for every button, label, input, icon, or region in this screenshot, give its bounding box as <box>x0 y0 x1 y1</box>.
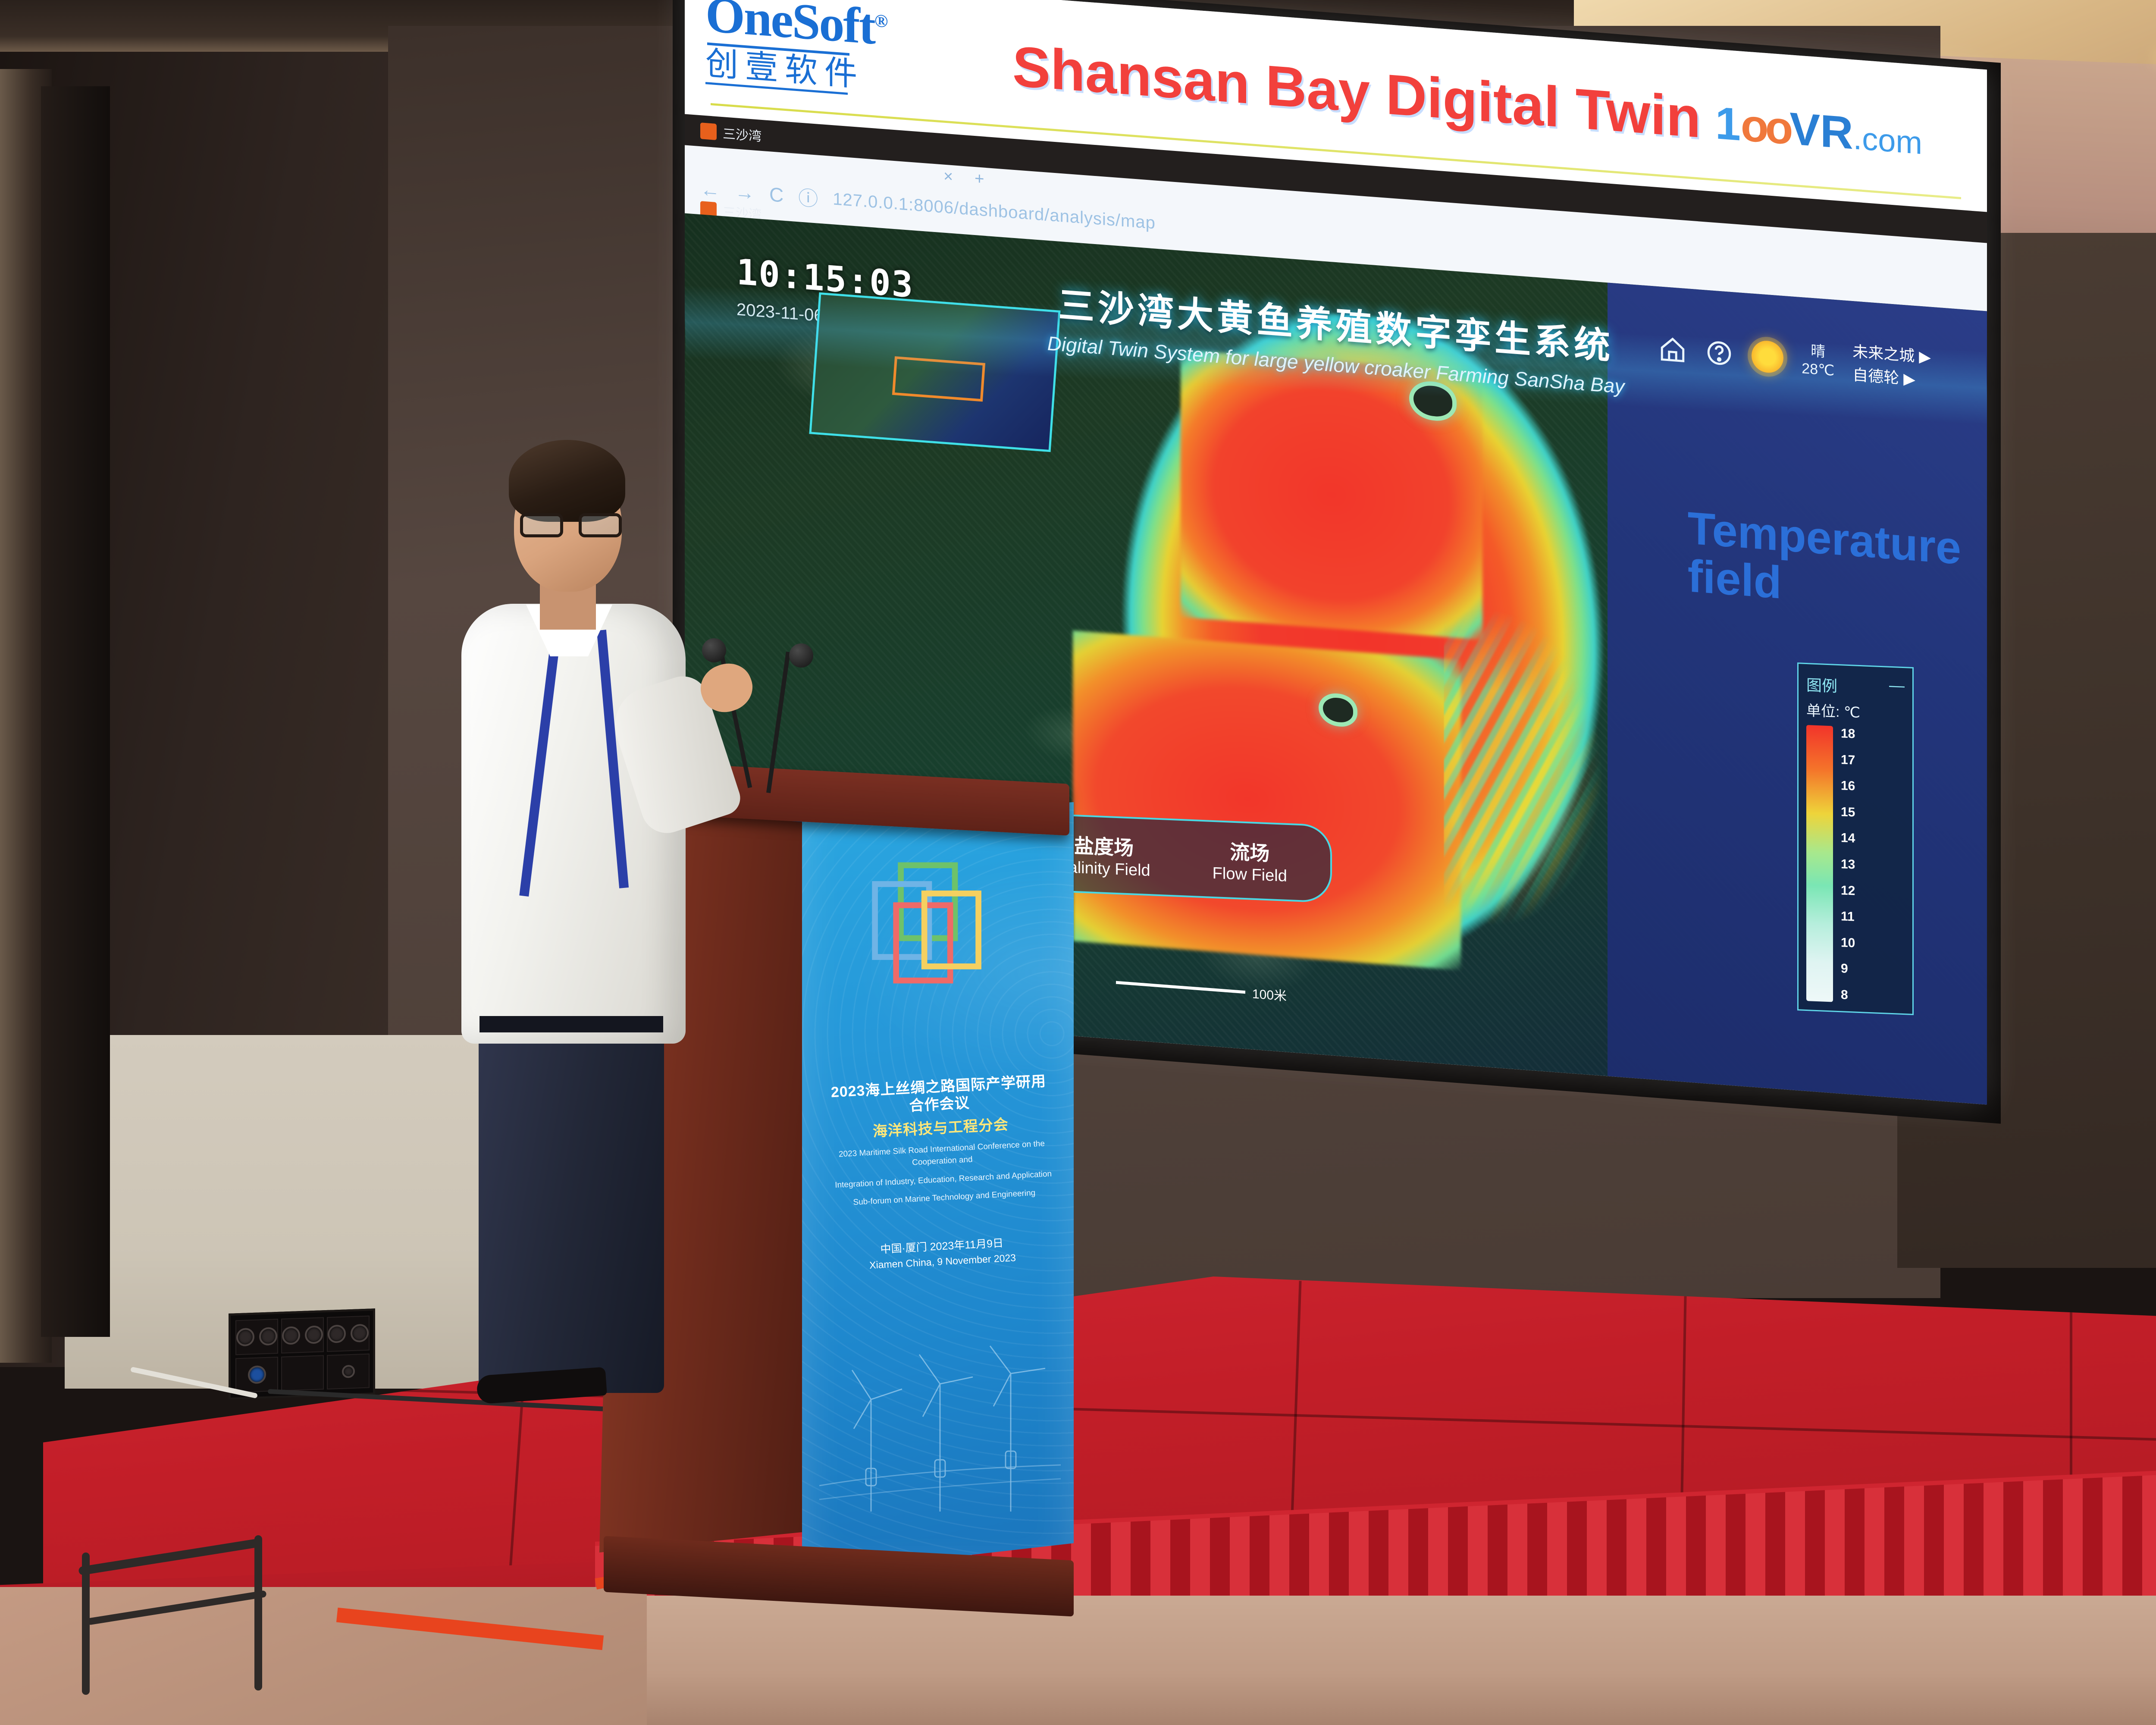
legend-ticks: 18 17 16 15 14 13 12 11 10 9 8 <box>1841 726 1855 1003</box>
speaker-belt <box>479 1016 663 1032</box>
conference-emblem-icon <box>858 858 1005 988</box>
vr-logo-tld: .com <box>1853 120 1922 161</box>
wind-turbine-graphic <box>819 1337 1061 1522</box>
hud-quick-links[interactable]: 未来之城 ▶ 自德轮 ▶ <box>1852 340 1931 392</box>
field-button-label-en: Flow Field <box>1213 864 1287 886</box>
thermal-front-contour-bands <box>1444 590 1711 998</box>
bookmark-label: 三沙湾 <box>723 123 761 145</box>
back-icon[interactable]: ← <box>700 177 720 202</box>
legend-tick: 14 <box>1841 831 1855 846</box>
stage-audio-connector-panel <box>229 1308 375 1400</box>
legend-tick: 9 <box>1841 962 1855 977</box>
weather-temperature: 28℃ <box>1802 359 1834 380</box>
url-text: 127.0.0.1:8006/dashboard/analysis/map <box>833 189 1156 233</box>
legend-tick: 12 <box>1841 883 1855 898</box>
forward-icon[interactable]: → <box>735 180 755 204</box>
legend-colorbar <box>1806 725 1833 1002</box>
reload-icon[interactable]: C <box>769 182 783 207</box>
weather-readout: 晴 28℃ <box>1802 341 1834 380</box>
field-button-label-cn: 流场 <box>1213 836 1287 867</box>
legend-tick: 16 <box>1841 778 1855 793</box>
legend-title: 图例 <box>1806 673 1837 696</box>
legend-collapse-icon[interactable]: — <box>1889 676 1905 699</box>
speaker-hair <box>509 440 625 522</box>
sun-icon <box>1752 340 1783 374</box>
conference-title-en-line1: 2023 Maritime Silk Road International Co… <box>827 1137 1057 1174</box>
legend-tick: 15 <box>1841 805 1855 820</box>
legend-tick: 11 <box>1841 909 1855 924</box>
new-tab-icon[interactable]: + <box>975 169 984 189</box>
scale-bar-label: 100米 <box>1252 983 1287 1004</box>
bookmark-favicon-icon <box>700 122 717 140</box>
partner-logo-100vr: 1ooVR.com <box>1715 100 1922 161</box>
vr-logo-vr: VR <box>1789 103 1853 159</box>
home-icon[interactable] <box>1658 334 1687 365</box>
door-panel <box>41 86 110 1337</box>
stage-handrail <box>78 1535 319 1682</box>
site-info-icon[interactable]: ⓘ <box>798 182 818 212</box>
legend-tick: 10 <box>1841 935 1855 950</box>
legend-tick: 8 <box>1841 988 1855 1003</box>
legend-tick: 13 <box>1841 857 1855 872</box>
browser-tab-strip[interactable]: × + <box>943 167 984 189</box>
speaker-person <box>440 440 707 1367</box>
slide-title: Shansan Bay Digital Twin <box>1012 34 1701 151</box>
field-button-flow[interactable]: 流场 Flow Field <box>1189 828 1310 894</box>
tab-close-icon[interactable]: × <box>943 167 953 187</box>
legend-tick: 18 <box>1841 726 1855 741</box>
microphone-head-icon <box>789 643 813 668</box>
vr-goggles-icon: oo <box>1741 100 1790 154</box>
legend-tick: 17 <box>1841 753 1855 768</box>
conference-photo-scene: OneSoft® 创壹软件 Shansan Bay Digital Twin 1… <box>0 0 2156 1725</box>
temperature-legend[interactable]: 图例 — 单位: ℃ 18 17 16 15 14 13 12 11 <box>1797 662 1914 1015</box>
vr-logo-digit: 1 <box>1715 97 1741 150</box>
weather-condition: 晴 <box>1802 341 1834 362</box>
podium-conference-banner: 2023海上丝绸之路国际产学研用合作会议 海洋科技与工程分会 2023 Mari… <box>824 1072 1059 1210</box>
registered-mark-icon: ® <box>874 11 887 31</box>
legend-unit: 单位: ℃ <box>1806 699 1905 724</box>
podium-front-panel: 2023海上丝绸之路国际产学研用合作会议 海洋科技与工程分会 2023 Mari… <box>802 802 1074 1574</box>
onesoft-logo: OneSoft® 创壹软件 <box>705 0 887 98</box>
temperature-field-annotation: Temperature field <box>1688 504 1961 621</box>
temperature-field-lobe <box>1073 630 1461 970</box>
eyeglasses-icon <box>520 513 622 539</box>
help-icon[interactable] <box>1705 338 1733 368</box>
speaker-trousers <box>479 1018 664 1393</box>
